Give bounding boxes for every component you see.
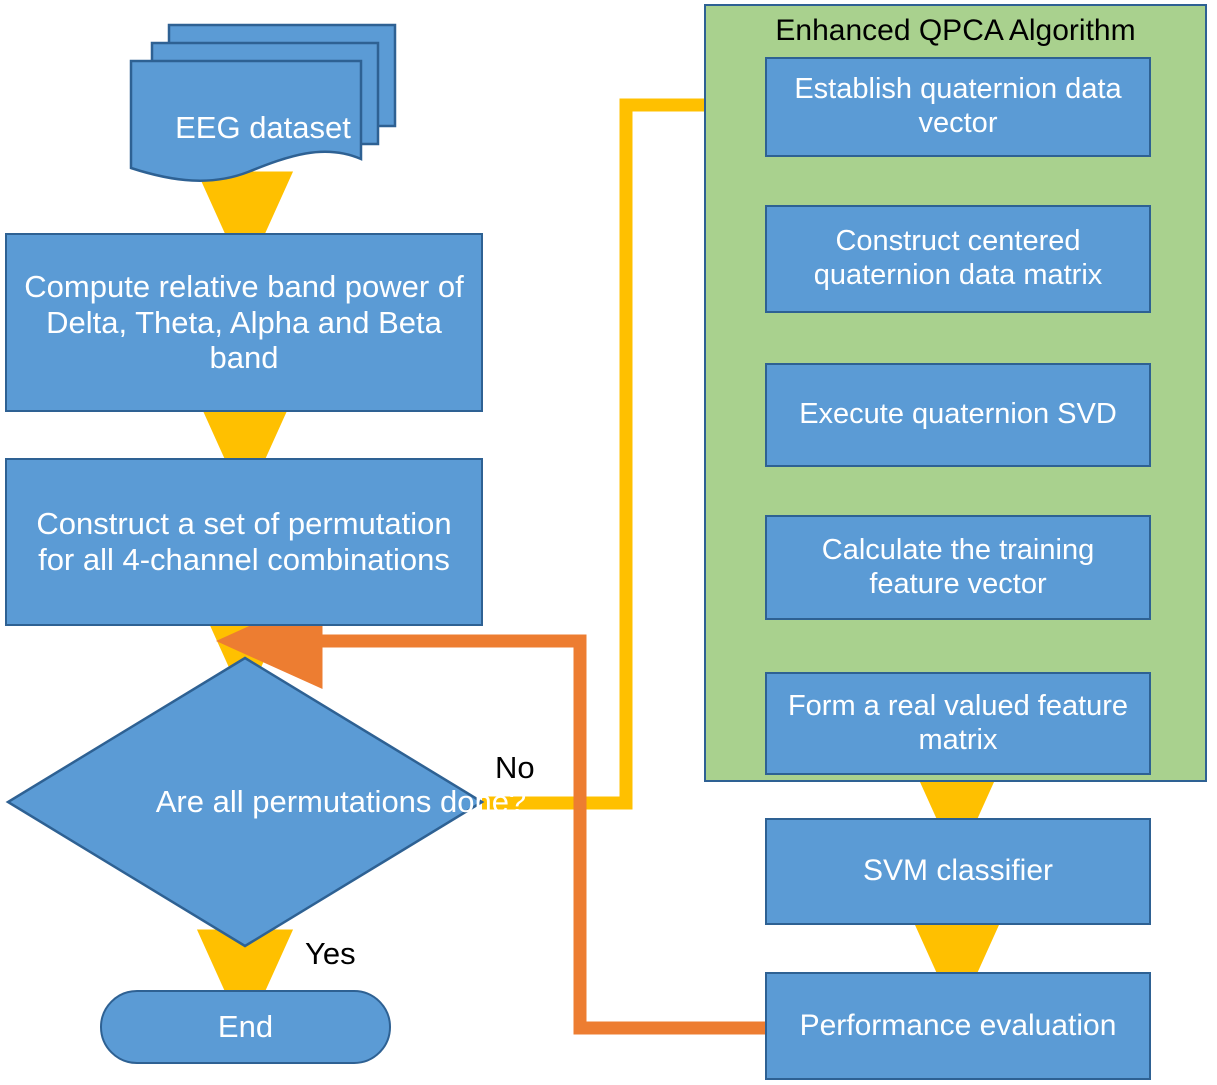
step-execute-quaternion-svd-label: Execute quaternion SVD: [799, 398, 1117, 432]
eeg-dataset-label: EEG dataset: [128, 110, 398, 146]
step-establish-quaternion-data-vector-label: Establish quaternion data vector: [777, 73, 1139, 140]
edge-label-no: No: [495, 752, 535, 783]
step-form-real-valued-feature-matrix[interactable]: Form a real valued feature matrix: [765, 672, 1151, 775]
step-construct-centered-quaternion-data-matrix[interactable]: Construct centered quaternion data matri…: [765, 205, 1151, 313]
decision-all-permutations-done[interactable]: Are all permutations done?: [5, 655, 485, 949]
flowchart-canvas: EEG dataset Compute relative band power …: [0, 0, 1217, 1085]
step-svm-classifier-label: SVM classifier: [863, 854, 1053, 889]
step-calculate-training-feature-vector-label: Calculate the training feature vector: [777, 534, 1139, 601]
step-construct-permutations-label: Construct a set of permutation for all 4…: [19, 506, 469, 578]
group-title: Enhanced QPCA Algorithm: [706, 14, 1205, 47]
step-execute-quaternion-svd[interactable]: Execute quaternion SVD: [765, 363, 1151, 467]
step-performance-evaluation[interactable]: Performance evaluation: [765, 972, 1151, 1080]
eeg-dataset-node[interactable]: EEG dataset: [128, 22, 398, 187]
decision-label: Are all permutations done?: [5, 655, 677, 949]
edge-label-yes: Yes: [305, 938, 356, 969]
step-performance-evaluation-label: Performance evaluation: [800, 1009, 1117, 1044]
multi-document-icon: [128, 22, 398, 187]
terminator-end[interactable]: End: [100, 990, 391, 1064]
step-form-real-valued-feature-matrix-label: Form a real valued feature matrix: [777, 690, 1139, 757]
step-construct-permutations[interactable]: Construct a set of permutation for all 4…: [5, 458, 483, 626]
step-compute-band-power-label: Compute relative band power of Delta, Th…: [19, 269, 469, 377]
step-compute-band-power[interactable]: Compute relative band power of Delta, Th…: [5, 233, 483, 412]
step-establish-quaternion-data-vector[interactable]: Establish quaternion data vector: [765, 57, 1151, 157]
step-construct-centered-quaternion-data-matrix-label: Construct centered quaternion data matri…: [775, 225, 1141, 292]
step-calculate-training-feature-vector[interactable]: Calculate the training feature vector: [765, 515, 1151, 620]
step-svm-classifier[interactable]: SVM classifier: [765, 818, 1151, 925]
terminator-end-label: End: [218, 1009, 273, 1045]
